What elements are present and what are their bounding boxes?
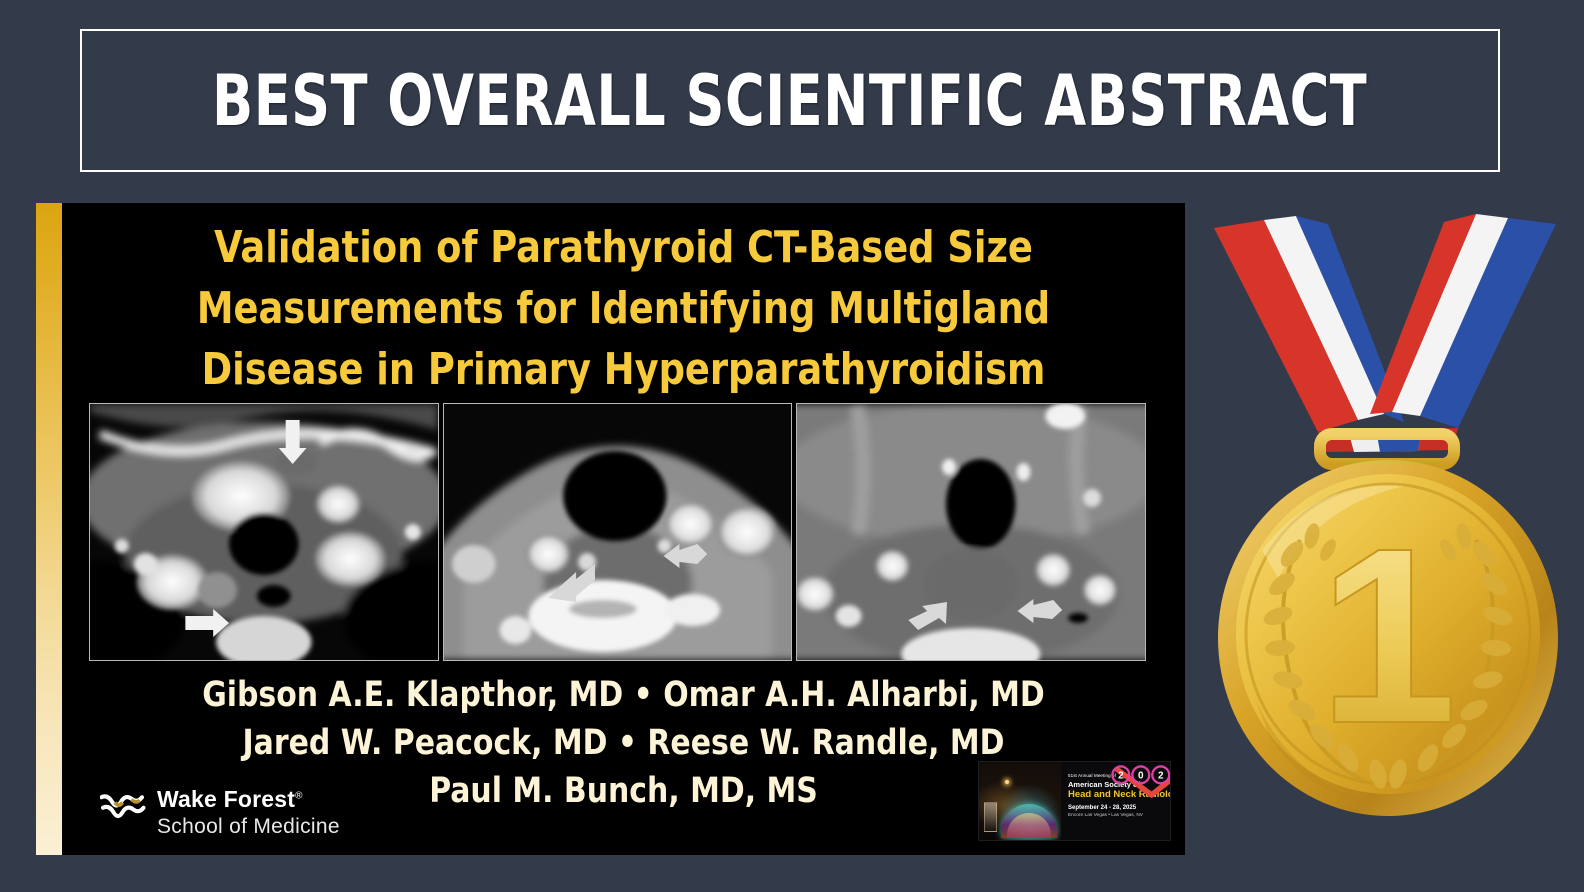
poster-title-line-2: Measurements for Identifying Multigland (129, 278, 1118, 339)
registered-mark: ® (295, 790, 303, 801)
svg-text:2: 2 (1158, 771, 1164, 782)
ct-image-panel-3 (796, 403, 1146, 661)
medal-ribbon-left (1214, 216, 1404, 432)
medal-ribbon-right (1370, 214, 1556, 428)
conference-year-logo: 2 0 2 5 (1104, 764, 1171, 798)
poster-title-line-3: Disease in Primary Hyperparathyroidism (129, 339, 1118, 400)
venue-dome-shape (1001, 804, 1057, 838)
gold-medal: 1 (1208, 210, 1568, 850)
award-banner: BEST OVERALL SCIENTIFIC ABSTRACT (80, 29, 1500, 172)
wake-forest-logo: Wake Forest® School of Medicine (100, 788, 340, 837)
conference-venue-photo (979, 762, 1061, 840)
wake-forest-wordmark: Wake Forest® School of Medicine (157, 788, 340, 837)
axial-neck-ct-right-image (797, 404, 1145, 660)
poster-title-line-1: Validation of Parathyroid CT-Based Size (129, 217, 1118, 278)
author-line-2: Jared W. Peacock, MD • Reese W. Randle, … (90, 719, 1157, 767)
poster-gold-accent-strip (36, 203, 62, 855)
institution-name: Wake Forest® (157, 788, 340, 811)
poster-thumbnail[interactable]: Validation of Parathyroid CT-Based Size … (36, 203, 1185, 855)
award-banner-title: BEST OVERALL SCIENTIFIC ABSTRACT (212, 60, 1367, 142)
poster-body: Validation of Parathyroid CT-Based Size … (62, 203, 1185, 855)
conference-dates: September 24 - 28, 2025 (1068, 805, 1171, 812)
conference-info: 51st Annual Meeting of American Society … (1061, 762, 1171, 840)
author-line-1: Gibson A.E. Klapthor, MD • Omar A.H. Alh… (90, 671, 1157, 719)
conference-location: Encore Las Vegas • Las Vegas, NV (1068, 813, 1171, 819)
conference-badge: 51st Annual Meeting of American Society … (978, 761, 1171, 841)
wake-forest-ww-mark-icon (100, 792, 148, 822)
axial-neck-ct-left-image (90, 404, 438, 660)
award-slide: BEST OVERALL SCIENTIFIC ABSTRACT Validat… (0, 0, 1584, 892)
svg-text:2: 2 (1118, 771, 1124, 782)
axial-neck-ct-middle-image (444, 404, 792, 660)
poster-title: Validation of Parathyroid CT-Based Size … (62, 217, 1185, 400)
venue-tower-shape (984, 802, 997, 832)
venue-lamp-light (1005, 780, 1009, 784)
first-place-medal-icon: 1 (1208, 210, 1568, 850)
medal-place-number: 1 (1318, 496, 1457, 775)
svg-text:0: 0 (1138, 771, 1144, 782)
ct-image-panel-1 (89, 403, 439, 661)
institution-subtitle: School of Medicine (157, 816, 340, 837)
ct-figure-row (89, 403, 1146, 661)
ct-image-panel-2 (443, 403, 793, 661)
